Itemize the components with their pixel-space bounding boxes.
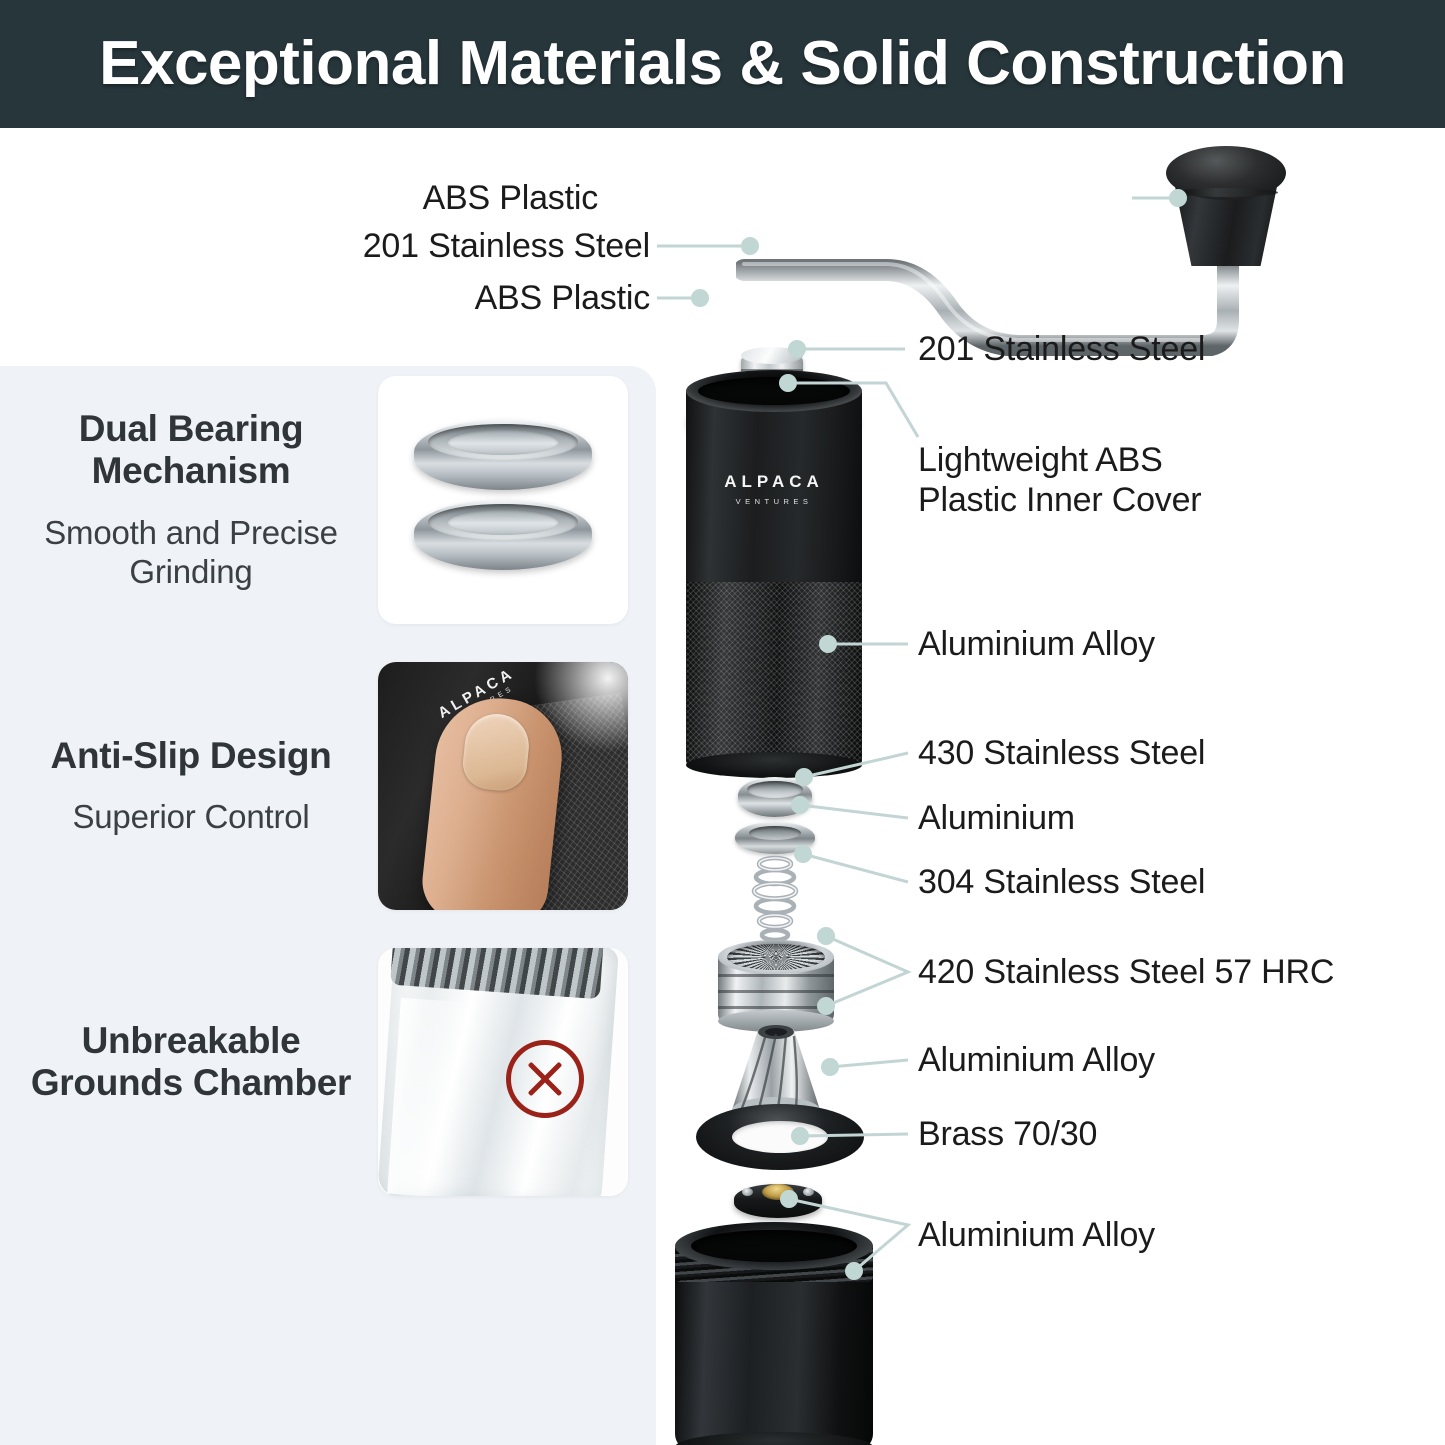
feature-title: Anti-Slip Design — [18, 735, 364, 777]
main-body: ALPACA VENTURES — [686, 386, 862, 768]
knob-band — [1174, 188, 1278, 197]
page-title: Exceptional Materials & Solid Constructi… — [99, 33, 1346, 95]
feature-text-block: Dual Bearing Mechanism Smooth and Precis… — [0, 408, 378, 592]
callout-cap-201-stainless: 201 Stainless Steel — [230, 226, 650, 266]
jar-highlight — [387, 998, 471, 1196]
prohibition-x-icon — [506, 1040, 584, 1118]
exploded-product-view: ALPACA VENTURES — [648, 128, 1008, 1445]
jar-scene — [378, 948, 628, 1196]
anti-slip-thumb-photo: ALPACA VENTURES — [378, 662, 628, 910]
black-ring — [696, 1104, 864, 1170]
feature-dual-bearing: Dual Bearing Mechanism Smooth and Precis… — [0, 370, 656, 630]
grip-scene: ALPACA VENTURES — [378, 662, 628, 910]
feature-subtitle: Smooth and Precise Grinding — [18, 513, 364, 592]
feature-text-block: Unbreakable Grounds Chamber — [0, 1020, 378, 1124]
feature-title: Dual Bearing Mechanism — [18, 408, 364, 492]
feature-title: Unbreakable Grounds Chamber — [18, 1020, 364, 1104]
burr-teeth — [727, 944, 825, 970]
feature-subtitle: Superior Control — [18, 797, 364, 837]
infographic-page: Exceptional Materials & Solid Constructi… — [0, 0, 1445, 1445]
burr-set — [718, 940, 834, 1036]
feature-text-block: Anti-Slip Design Superior Control — [0, 735, 378, 837]
spring — [744, 854, 806, 948]
chamber-rim — [675, 1222, 873, 1270]
screw-left — [742, 1188, 753, 1196]
body-top-rim — [686, 370, 862, 412]
bearing-ring-lower-icon — [414, 500, 592, 570]
screw-right — [803, 1188, 814, 1196]
brass-disc — [734, 1178, 822, 1226]
header-banner: Exceptional Materials & Solid Constructi… — [0, 0, 1445, 128]
bearing-ring-upper-icon — [414, 420, 592, 490]
thumbnail-icon — [460, 711, 532, 793]
knurled-grip-section — [686, 582, 862, 768]
ring-hole — [732, 1121, 828, 1153]
crank-knob — [1164, 146, 1288, 266]
washer — [735, 822, 815, 854]
dual-bearing-photo — [378, 376, 628, 624]
bearing-ring — [738, 777, 812, 817]
glass-jar-photo — [378, 948, 628, 1196]
callout-knob-abs-plastic: ABS Plastic — [268, 178, 598, 218]
brass-insert — [762, 1184, 794, 1200]
features-panel: Dual Bearing Mechanism Smooth and Precis… — [0, 366, 656, 1445]
callout-disc-abs-plastic: ABS Plastic — [320, 278, 650, 318]
chamber-tube — [675, 1254, 873, 1445]
feature-anti-slip: Anti-Slip Design Superior Control ALPACA… — [0, 656, 656, 916]
feature-unbreakable-chamber: Unbreakable Grounds Chamber — [0, 942, 656, 1202]
smooth-body-section — [686, 386, 862, 582]
grounds-chamber — [675, 1228, 873, 1445]
